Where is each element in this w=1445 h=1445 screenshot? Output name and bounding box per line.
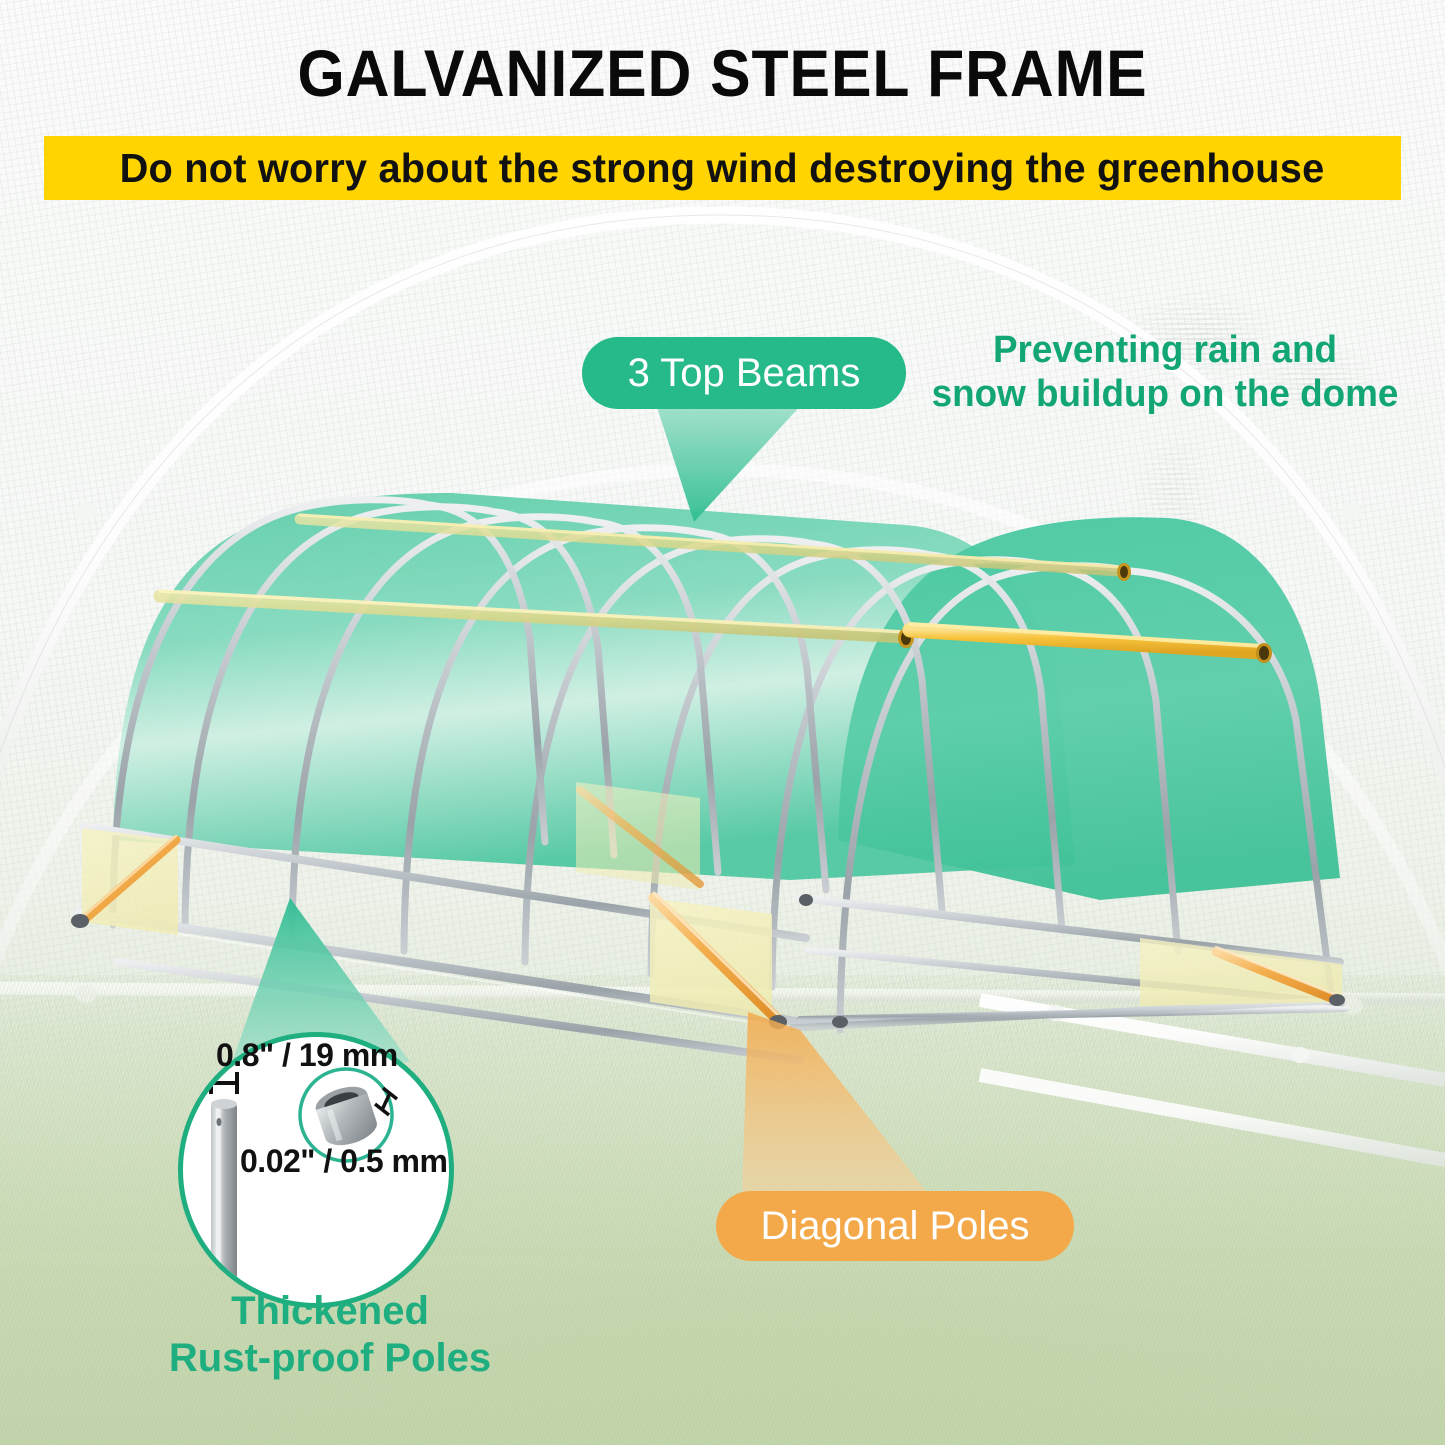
benefit-note: Preventing rain and snow buildup on the … (913, 328, 1417, 416)
pole-detail-caption: Thickened Rust-proof Poles (140, 1288, 520, 1382)
pole-detail-caption-line2: Rust-proof Poles (140, 1335, 520, 1382)
diameter-caliper-icon (211, 1072, 237, 1094)
benefit-note-line2: snow buildup on the dome (913, 372, 1417, 416)
pole-diameter-label: 0.8" / 19 mm (216, 1037, 398, 1074)
badge-top-beams-label: 3 Top Beams (628, 351, 861, 396)
badge-top-beams[interactable]: 3 Top Beams (582, 337, 906, 409)
cone-diagonal-poles (742, 1012, 930, 1196)
pole-thickness-label: 0.02" / 0.5 mm (240, 1143, 447, 1180)
benefit-note-line1: Preventing rain and (913, 328, 1417, 372)
subtitle-banner: Do not worry about the strong wind destr… (44, 136, 1401, 200)
subtitle-text: Do not worry about the strong wind destr… (120, 145, 1325, 192)
cone-top-beams (656, 404, 802, 522)
badge-diagonal-poles-label: Diagonal Poles (760, 1204, 1029, 1249)
page-title: GALVANIZED STEEL FRAME (58, 40, 1387, 106)
badge-diagonal-poles[interactable]: Diagonal Poles (716, 1191, 1074, 1261)
pole-detail-caption-line1: Thickened (140, 1288, 520, 1335)
infographic-canvas: GALVANIZED STEEL FRAME Do not worry abou… (0, 0, 1445, 1445)
